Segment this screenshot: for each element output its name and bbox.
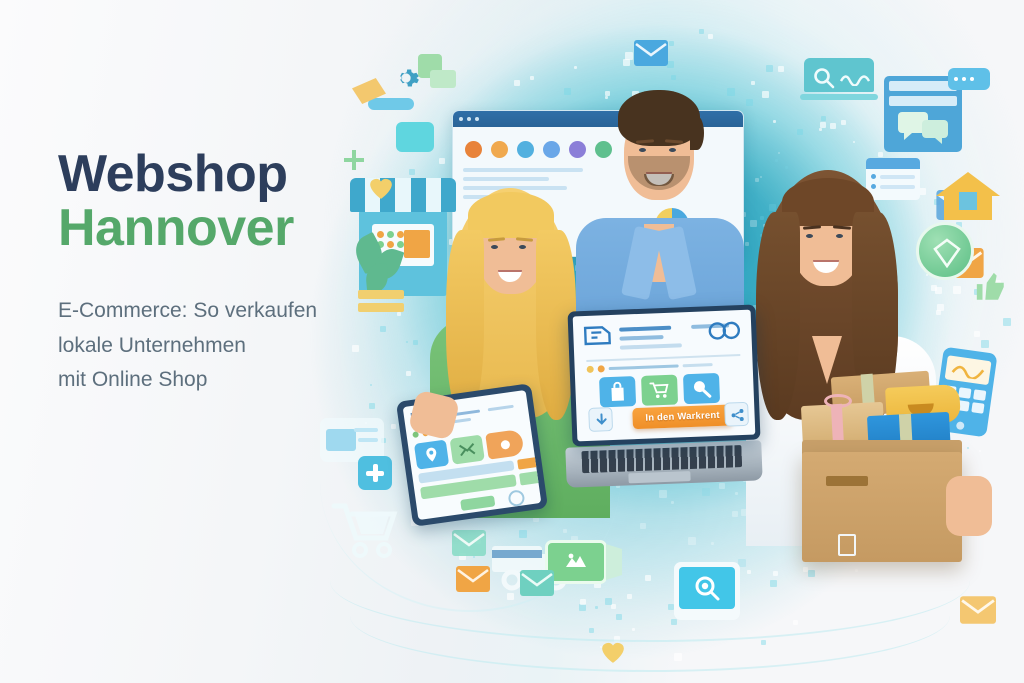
pixel-dot	[953, 286, 961, 294]
subtitle-line-2: lokale Unternehmen	[58, 329, 408, 364]
pixel-dot	[974, 331, 980, 337]
envelope-icon	[634, 40, 668, 66]
envelope-icon	[520, 570, 554, 596]
pixel-dot	[745, 242, 749, 246]
gear-icon	[392, 64, 420, 92]
pixel-dot	[830, 123, 836, 129]
location-pin-tile[interactable]	[414, 440, 449, 470]
pixel-dot	[841, 120, 846, 125]
window-dot	[467, 117, 471, 121]
video-card-icon	[545, 540, 607, 584]
plus-icon	[358, 456, 392, 490]
pixel-dot	[750, 220, 757, 227]
shop-logo-icon	[583, 324, 612, 347]
pixel-dot	[775, 159, 778, 162]
pixel-dot	[574, 66, 577, 69]
page-subtitle: E-Commerce: So verkaufen lokale Unterneh…	[58, 294, 408, 398]
pixel-dot	[979, 450, 981, 452]
share-icon[interactable]	[724, 402, 749, 427]
chat-bubble-icon	[948, 68, 990, 90]
pixel-dot	[623, 59, 630, 66]
pixel-dot	[439, 158, 445, 164]
pixel-dot	[773, 120, 776, 123]
sock-icon	[396, 122, 434, 152]
tag-tile[interactable]	[485, 429, 524, 460]
awning	[350, 178, 456, 212]
pixel-dot	[1003, 318, 1011, 326]
shopping-bag-tile[interactable]	[599, 376, 636, 407]
infinity-icon	[707, 320, 742, 341]
pixel-dot	[669, 41, 674, 46]
tablet-search-icon	[674, 562, 740, 620]
thumbs-up-icon	[974, 270, 1008, 304]
toggle-pill-icon	[368, 98, 414, 110]
browser-nav-dot[interactable]	[543, 141, 560, 158]
pixel-dot	[746, 99, 753, 106]
heart-icon	[600, 640, 626, 664]
pixel-dot	[797, 129, 803, 135]
add-to-cart-button[interactable]: In den Warkrent	[632, 404, 733, 429]
laptop-base	[565, 440, 762, 487]
window-dot	[475, 117, 479, 121]
pixel-dot	[778, 152, 780, 154]
pixel-dot	[931, 285, 937, 291]
pixel-dot	[751, 81, 755, 85]
pixel-dot	[936, 310, 941, 315]
pixel-dot	[762, 91, 769, 98]
pixel-dot	[878, 152, 883, 157]
browser-nav-dot[interactable]	[569, 141, 586, 158]
heart-icon	[368, 176, 394, 200]
envelope-icon	[960, 596, 996, 624]
window-dot	[459, 117, 463, 121]
laptop-lid: In den Warkrent	[567, 304, 760, 446]
laptop-device[interactable]: In den Warkrent	[566, 308, 762, 523]
pixel-dot	[819, 128, 822, 131]
laptop-keyboard	[581, 445, 742, 473]
pixel-dot	[778, 66, 784, 72]
pixel-dot	[853, 141, 855, 143]
envelope-icon	[456, 566, 490, 592]
pixel-dot	[564, 88, 571, 95]
subtitle-line-1: E-Commerce: So verkaufen	[58, 294, 408, 329]
pixel-dot	[727, 88, 735, 96]
folder-icon	[430, 70, 456, 88]
headline-line-1: Webshop	[58, 148, 294, 202]
pixel-dot	[409, 169, 415, 175]
envelope-icon	[452, 530, 486, 556]
house-icon	[932, 166, 1004, 226]
shopping-cart-tile[interactable]	[641, 375, 678, 406]
pixel-dot	[699, 29, 704, 34]
browser-nav-dot[interactable]	[491, 141, 508, 158]
pixel-dot	[413, 340, 418, 345]
pixel-dot	[821, 116, 826, 121]
pixel-dot	[530, 76, 534, 80]
laptop-screen: In den Warkrent	[573, 310, 756, 442]
man-in-blue-shirt	[592, 78, 722, 338]
mail-tile[interactable]	[450, 435, 485, 465]
laptop-search-icon	[800, 58, 878, 100]
hero-banner: In den Warkrent Webshop Hannover E-Comme…	[0, 0, 1024, 683]
laptop-trackpad[interactable]	[628, 471, 690, 483]
pixel-dot	[981, 340, 989, 348]
pixel-dot	[514, 80, 520, 86]
page-title: Webshop Hannover	[58, 148, 294, 255]
browser-nav-dot[interactable]	[517, 141, 534, 158]
pixel-dot	[667, 61, 674, 68]
pixel-dot	[967, 447, 969, 449]
browser-nav-dot[interactable]	[465, 141, 482, 158]
subtitle-line-3: mit Online Shop	[58, 363, 408, 398]
headline-line-2: Hannover	[58, 202, 294, 256]
download-icon[interactable]	[588, 407, 613, 432]
shopping-cart-icon	[330, 498, 402, 564]
search-tile[interactable]	[683, 373, 720, 404]
pixel-dot	[708, 34, 713, 39]
pixel-dot	[766, 65, 773, 72]
video-card-flap	[606, 544, 622, 580]
pixel-dot	[755, 178, 759, 182]
